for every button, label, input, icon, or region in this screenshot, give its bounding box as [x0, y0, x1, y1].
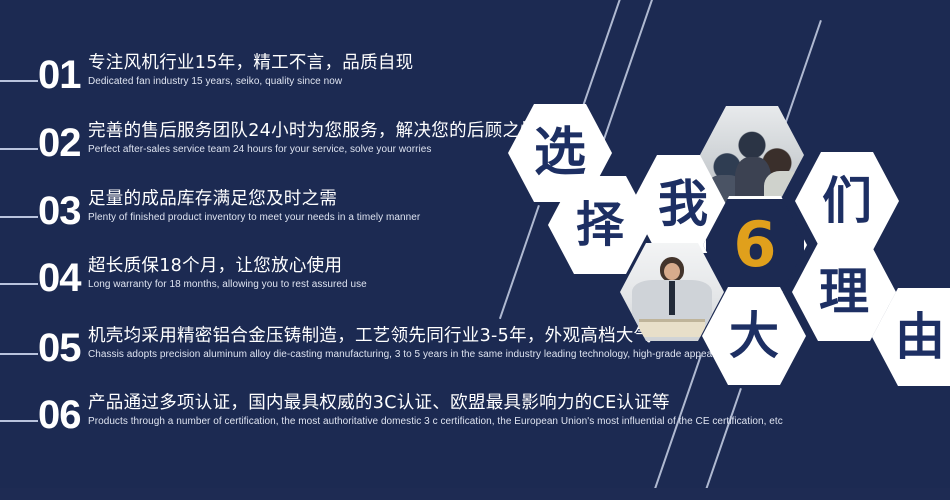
hex-glyph: 由 — [895, 312, 945, 362]
hex-tile-men: 们 — [795, 152, 899, 250]
promo-banner: 01 专注风机行业15年，精工不言，品质自现 Dedicated fan ind… — [0, 0, 950, 500]
hex-glyph: 我 — [658, 179, 708, 229]
bottom-band — [0, 488, 950, 500]
hex-glyph: 择 — [576, 201, 624, 249]
hex-glyph-count: 6 — [733, 214, 776, 276]
hexagon-cluster: 选 择 我 6 们 — [0, 0, 950, 500]
hex-glyph: 理 — [819, 267, 869, 317]
hex-glyph: 们 — [822, 176, 872, 226]
hex-glyph: 选 — [534, 127, 586, 179]
hex-glyph: 大 — [729, 311, 779, 361]
